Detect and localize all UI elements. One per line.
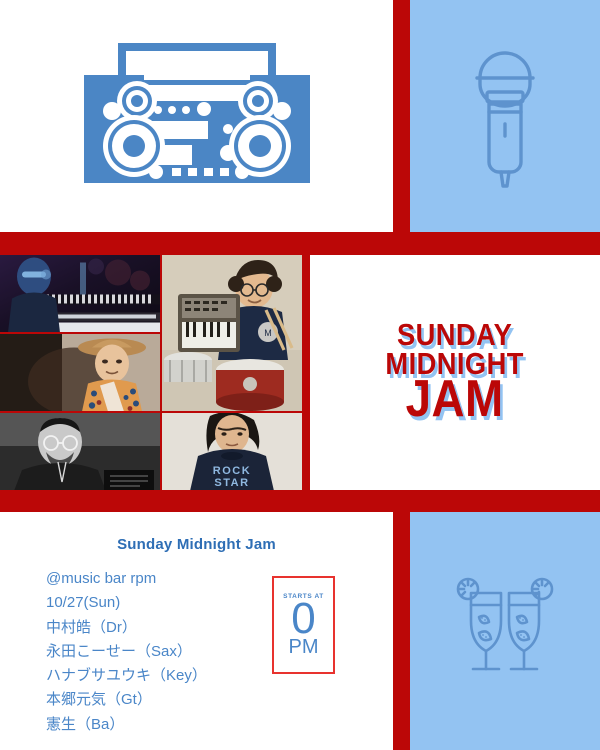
svg-text:M: M	[264, 328, 272, 338]
photo-rock-star-art: ROCK STAR	[162, 413, 302, 490]
info-line-bass: 憲生（Ba）	[46, 713, 393, 737]
cocktail-glasses-icon	[449, 573, 561, 689]
cocktails-panel	[410, 512, 600, 750]
info-line-keys: ハナブサユウキ（Key）	[46, 664, 393, 688]
info-line-guitar: 本郷元気（Gt）	[46, 688, 393, 712]
boombox-icon-wrap	[0, 0, 393, 232]
title-panel: SUNDAY MIDNIGHT JAM	[310, 255, 600, 490]
info-line-drums: 中村皓（Dr）	[46, 616, 393, 640]
microphone-icon	[467, 36, 543, 196]
title-line-3: JAM	[386, 376, 524, 424]
starts-at-ampm: PM	[289, 637, 319, 657]
info-line-sax: 永田こーせー（Sax）	[46, 640, 393, 664]
starts-at-box: STARTS AT 0 PM	[272, 576, 335, 674]
microphone-panel	[410, 0, 600, 232]
info-heading: Sunday Midnight Jam	[0, 536, 393, 553]
boombox-right-tweeter	[238, 81, 278, 121]
boombox-left-tweeter	[117, 81, 157, 121]
boombox-panel	[0, 0, 393, 232]
starts-at-hour: 0	[291, 598, 315, 640]
photo-grid: M	[0, 255, 300, 490]
photo-person-hat-art	[0, 334, 160, 411]
microphone-icon-wrap	[410, 0, 600, 232]
boombox-icon	[82, 41, 312, 191]
svg-text:STAR: STAR	[214, 477, 249, 489]
cocktail-icon-wrap	[410, 512, 600, 750]
boombox-right-woofer	[229, 115, 291, 177]
photo-person-bw-art	[0, 413, 160, 490]
photo-person-hat	[0, 334, 160, 411]
photo-person-bw-headphones	[0, 413, 160, 490]
poster-root: M	[0, 0, 600, 750]
title-stack: SUNDAY MIDNIGHT JAM	[376, 321, 533, 424]
info-lines: @music bar rpm 10/27(Sun) 中村皓（Dr） 永田こーせー…	[46, 567, 393, 737]
svg-text:ROCK: ROCK	[213, 465, 251, 477]
photo-drummer-keytar-art: M	[162, 255, 302, 411]
photo-keyboardist-stage-art	[0, 255, 160, 332]
info-line-date: 10/27(Sun)	[46, 591, 393, 615]
info-line-venue: @music bar rpm	[46, 567, 393, 591]
photo-keyboardist-stage	[0, 255, 160, 332]
photo-rock-star-shirt: ROCK STAR	[162, 413, 302, 490]
photo-drummer-keytar: M	[162, 255, 302, 411]
poster-title: SUNDAY MIDNIGHT JAM	[310, 255, 600, 490]
boombox-left-woofer	[103, 115, 165, 177]
